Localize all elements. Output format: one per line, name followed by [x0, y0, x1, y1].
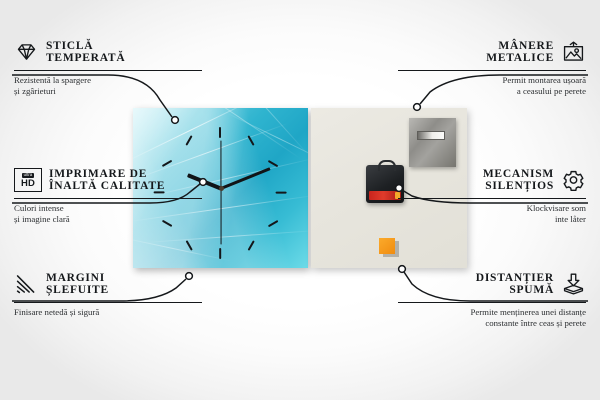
feature-title-line2: ȘLEFUITE	[46, 284, 109, 296]
divider	[14, 70, 202, 71]
feature-silent-mechanism: MECANISM SILENȚIOS Klockvisare som inte …	[398, 168, 586, 226]
hand-hub	[219, 186, 224, 191]
arrow-down-pad-icon	[561, 273, 586, 295]
feature-desc-line2: constante între ceas și perete	[398, 318, 586, 330]
feature-desc-line1: Finisare netedă și sigură	[14, 307, 202, 319]
feature-desc-line1: Culori intense	[14, 203, 202, 215]
hd-label: HD	[21, 179, 35, 189]
divider	[14, 198, 202, 199]
hour-marker	[268, 159, 279, 166]
feature-title-line1: IMPRIMARE DE	[49, 168, 165, 180]
hour-marker	[276, 191, 287, 193]
second-hand-tail	[220, 141, 221, 189]
feature-title-line1: MARGINI	[46, 272, 109, 284]
hour-marker	[268, 219, 279, 226]
infographic-canvas: STICLĂ TEMPERATĂ Rezistentă la spargere …	[0, 0, 600, 400]
feature-desc-line1: Rezistentă la spargere	[14, 75, 202, 87]
feature-title-line2: TEMPERATĂ	[46, 52, 125, 64]
feature-polished-edges: MARGINI ȘLEFUITE Finisare netedă și sigu…	[14, 272, 202, 318]
metal-hanger-plate	[409, 118, 456, 167]
feature-desc-line1: Permit montarea ușoară	[398, 75, 586, 87]
battery	[369, 191, 401, 200]
hour-marker	[186, 135, 193, 146]
feature-title-line1: MÂNERE	[486, 40, 554, 52]
feature-foam-spacer: DISTANȚIER SPUMĂ Permite menținerea unei…	[398, 272, 586, 330]
feature-title-line2: METALICE	[486, 52, 554, 64]
feature-tempered-glass: STICLĂ TEMPERATĂ Rezistentă la spargere …	[14, 40, 202, 98]
feature-desc-line2: a ceasului pe perete	[398, 86, 586, 98]
divider	[398, 198, 586, 199]
feature-desc-line2: inte låter	[398, 214, 586, 226]
gear-icon	[561, 169, 586, 191]
feature-desc-line2: și zgârieturi	[14, 86, 202, 98]
ultra-hd-icon: ultra HD	[14, 168, 42, 192]
second-hand	[220, 189, 221, 245]
feature-desc-line2: și imagine clară	[14, 214, 202, 226]
divider	[398, 302, 586, 303]
hour-marker	[219, 248, 221, 259]
feature-high-quality-print: ultra HD IMPRIMARE DE ÎNALTĂ CALITATE Cu…	[14, 168, 202, 226]
feature-title-line2: SILENȚIOS	[483, 180, 554, 192]
mechanism-loop	[378, 160, 396, 171]
hanger-slot	[417, 131, 445, 140]
hour-marker	[186, 240, 193, 251]
feature-title-line2: SPUMĂ	[476, 284, 554, 296]
hour-marker	[247, 240, 254, 251]
feature-title-line1: MECANISM	[483, 168, 554, 180]
feature-title-line2: ÎNALTĂ CALITATE	[49, 180, 165, 192]
foam-spacer-pad	[379, 238, 395, 254]
feature-metal-hangers: MÂNERE METALICE Permit montarea ușoară a…	[398, 40, 586, 98]
divider	[14, 302, 202, 303]
hour-marker	[219, 127, 221, 138]
diamond-icon	[14, 41, 39, 63]
feature-title-line1: DISTANȚIER	[476, 272, 554, 284]
hour-marker	[247, 135, 254, 146]
feature-desc-line1: Klockvisare som	[398, 203, 586, 215]
hatch-lines-icon	[14, 273, 39, 295]
feature-desc-line1: Permite menținerea unei distanțe	[398, 307, 586, 319]
feature-title-line1: STICLĂ	[46, 40, 125, 52]
divider	[398, 70, 586, 71]
picture-hanger-icon	[561, 41, 586, 63]
